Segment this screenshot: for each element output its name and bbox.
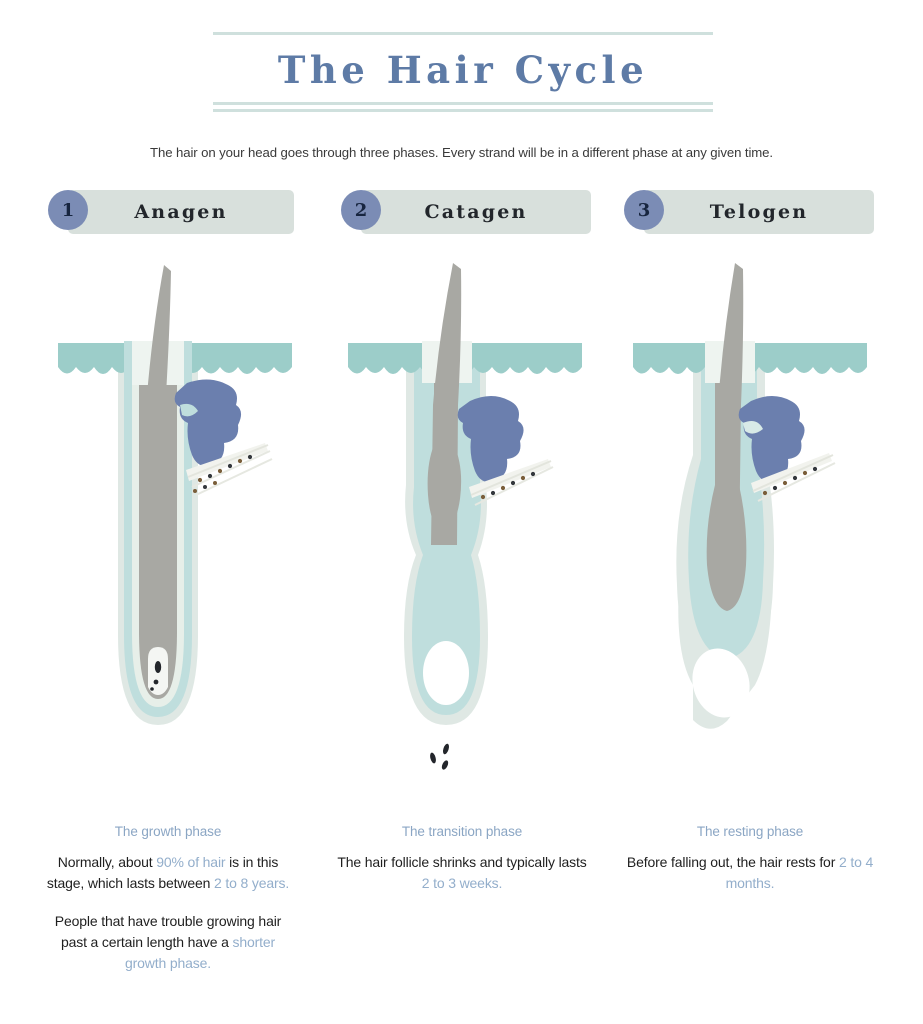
title-rule-bottom xyxy=(213,109,713,112)
anagen-opening-wall-left xyxy=(124,341,132,385)
phase-header-anagen: Anagen 1 xyxy=(48,190,274,234)
phase-label-telogen: Telogen xyxy=(644,190,874,234)
telogen-illustration-svg xyxy=(615,255,885,800)
phase-header-catagen: Catagen 2 xyxy=(341,190,571,234)
caption-catagen: The transition phase The hair follicle s… xyxy=(337,824,587,911)
catagen-detached-papilla-dots xyxy=(429,743,450,771)
caption-title-telogen: The resting phase xyxy=(625,824,875,839)
highlighted-text: 90% of hair xyxy=(156,854,225,870)
catagen-follicle-diagram xyxy=(330,255,600,800)
highlighted-text: 2 to 3 weeks. xyxy=(422,875,503,891)
body-text: Normally, about xyxy=(58,854,157,870)
telogen-hair-shaft xyxy=(715,263,743,555)
body-text: The hair follicle shrinks and typically … xyxy=(337,854,586,870)
anagen-opening-wall-right xyxy=(184,341,192,385)
highlighted-text: 2 to 8 years. xyxy=(214,875,289,891)
title-block: The Hair Cycle xyxy=(213,32,713,112)
phase-label-anagen: Anagen xyxy=(68,190,294,234)
telogen-follicle-diagram xyxy=(615,255,885,800)
anagen-papilla-dot-2 xyxy=(154,680,159,685)
phase-badge-3: 3 xyxy=(624,190,664,230)
caption-title-catagen: The transition phase xyxy=(337,824,587,839)
catagen-illustration-svg xyxy=(330,255,600,800)
caption-title-anagen: The growth phase xyxy=(43,824,293,839)
caption-paragraph: People that have trouble growing hair pa… xyxy=(43,911,293,974)
page-title: The Hair Cycle xyxy=(213,35,713,102)
caption-paragraph: Before falling out, the hair rests for 2… xyxy=(625,852,875,894)
phase-badge-2: 2 xyxy=(341,190,381,230)
anagen-papilla-dot-1 xyxy=(155,661,161,673)
catagen-empty-bulb xyxy=(423,641,469,705)
anagen-illustration-svg xyxy=(40,255,310,800)
anagen-papilla-dot-3 xyxy=(150,687,154,691)
phase-header-telogen: Telogen 3 xyxy=(624,190,854,234)
caption-paragraph: Normally, about 90% of hair is in this s… xyxy=(43,852,293,894)
body-text: Before falling out, the hair rests for xyxy=(627,854,839,870)
caption-telogen: The resting phase Before falling out, th… xyxy=(625,824,875,911)
caption-paragraph: The hair follicle shrinks and typically … xyxy=(337,852,587,894)
catagen-hair-shaft xyxy=(431,263,461,545)
page-subtitle: The hair on your head goes through three… xyxy=(0,145,923,160)
phase-badge-1: 1 xyxy=(48,190,88,230)
anagen-follicle-diagram xyxy=(40,255,310,800)
infographic-page: The Hair Cycle The hair on your head goe… xyxy=(0,0,923,1024)
phase-label-catagen: Catagen xyxy=(361,190,591,234)
caption-anagen: The growth phase Normally, about 90% of … xyxy=(43,824,293,991)
